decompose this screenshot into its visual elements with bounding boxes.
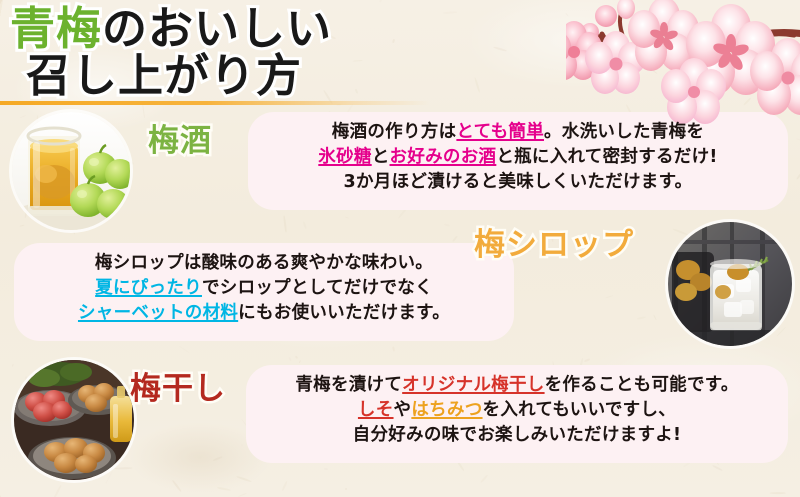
plain-phrase: を作ることも可能です。 [545, 375, 739, 395]
highlighted-phrase: はちみつ [411, 400, 482, 420]
umeshu-glass-with-green-plums-photo [12, 112, 130, 230]
plain-phrase: にもお使いいただけます。 [238, 303, 450, 323]
plain-phrase: 青梅を漬けて [295, 375, 402, 395]
highlighted-phrase: 氷砂糖 [318, 147, 371, 167]
description-line: シャーベットの材料にもお使いいただけます。 [14, 301, 514, 326]
title-keyword-aoume: 青梅 [10, 2, 102, 55]
description-line: 梅酒の作り方はとても簡単。水洗いした青梅を [248, 120, 788, 145]
description-line: 氷砂糖とお好みのお酒と瓶に入れて密封するだけ! [248, 145, 788, 170]
description-line: 3か月ほど漬けると美味しくいただけます。 [248, 170, 788, 195]
description-line: 自分好みの味でお楽しみいただけますよ! [246, 423, 788, 448]
description-line: しそやはちみつを入れてもいいですし、 [246, 398, 788, 423]
plain-phrase: を入れてもいいですし、 [483, 400, 677, 420]
plain-phrase: 自分好みの味でお楽しみいただけますよ! [353, 425, 682, 445]
description-line: 梅シロップは酸味のある爽やかな味わい。 [14, 251, 514, 276]
highlighted-phrase: シャーベットの材料 [78, 303, 238, 323]
description-line: 夏にぴったりでシロップとしてだけでなく [14, 276, 514, 301]
highlighted-phrase: オリジナル梅干し [402, 375, 544, 395]
section-label-umeboshi: 梅干し [130, 374, 226, 405]
highlighted-phrase: 夏にぴったり [95, 278, 202, 298]
highlighted-phrase: しそ [358, 400, 394, 420]
plain-phrase: と [372, 147, 390, 167]
title-line1-rest: のおいしい [102, 2, 332, 55]
title-line2: 召し上がり方 [26, 49, 302, 102]
plum-blossom-branch-icon [566, 0, 800, 126]
plain-phrase: 。水洗いした青梅を [544, 122, 704, 142]
poster-root: 青梅のおいしい 召し上がり方 [0, 0, 800, 497]
section-label-umeshu: 梅酒 [148, 126, 212, 157]
highlighted-phrase: お好みのお酒 [390, 147, 497, 167]
section-label-ume-syrup: 梅シロップ [474, 230, 634, 261]
plum-syrup-drink-with-ice-photo [668, 222, 792, 346]
description-line: 青梅を漬けてオリジナル梅干しを作ることも可能です。 [246, 373, 788, 398]
plain-phrase: や [394, 400, 412, 420]
ume-syrup-description: 梅シロップは酸味のある爽やかな味わい。夏にぴったりでシロップとしてだけでなくシャ… [14, 251, 514, 326]
umeshu-description: 梅酒の作り方はとても簡単。水洗いした青梅を氷砂糖とお好みのお酒と瓶に入れて密封す… [248, 120, 788, 195]
plain-phrase: でシロップとしてだけでなく [202, 278, 433, 298]
plain-phrase: と瓶に入れて密封するだけ! [496, 147, 717, 167]
plain-phrase: 3か月ほど漬けると美味しくいただけます。 [344, 172, 693, 192]
umeboshi-plates-photo [14, 360, 134, 480]
page-title: 青梅のおいしい 召し上がり方 [8, 2, 568, 102]
highlighted-phrase: とても簡単 [456, 122, 544, 142]
umeboshi-description: 青梅を漬けてオリジナル梅干しを作ることも可能です。しそやはちみつを入れてもいいで… [246, 373, 788, 448]
plain-phrase: 梅シロップは酸味のある爽やかな味わい。 [95, 253, 433, 273]
plain-phrase: 梅酒の作り方は [332, 122, 457, 142]
